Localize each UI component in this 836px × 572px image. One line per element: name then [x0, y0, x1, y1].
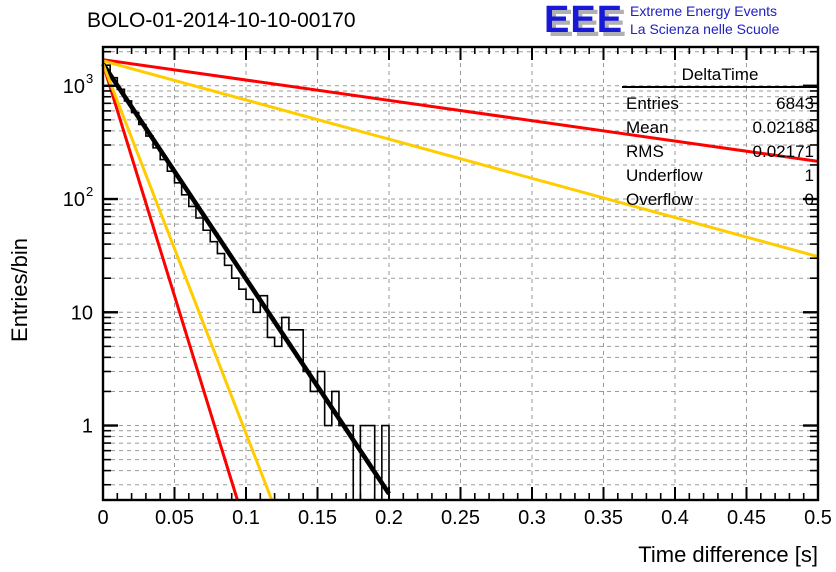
stats-row-label: RMS [626, 142, 664, 161]
x-axis-label: Time difference [s] [638, 542, 818, 567]
y-tick-exponent: 3 [86, 71, 93, 86]
stats-row-value: 0 [805, 190, 814, 209]
root-canvas: BOLO-01-2014-10-10-00170 EEE EEE Extreme… [0, 0, 836, 572]
x-tick-label: 0.4 [661, 507, 689, 529]
x-tick-label: 0.3 [518, 507, 546, 529]
eee-logo-line1: Extreme Energy Events [630, 3, 777, 19]
x-tick-label: 0 [97, 507, 108, 529]
x-tick-label: 0.15 [298, 507, 337, 529]
x-tick-label: 0.05 [155, 507, 194, 529]
stats-row-value: 0.02171 [753, 142, 814, 161]
y-tick-label: 10 [71, 302, 93, 324]
plot-page: BOLO-01-2014-10-10-00170 EEE EEE Extreme… [0, 0, 836, 572]
stats-row-label: Overflow [626, 190, 694, 209]
stats-row-value: 1 [805, 166, 814, 185]
x-tick-label: 0.5 [804, 507, 832, 529]
y-tick-exponent: 2 [86, 184, 93, 199]
y-tick-mantissa: 10 [71, 302, 93, 324]
y-tick-label: 1 [82, 416, 93, 438]
x-tick-label: 0.1 [232, 507, 260, 529]
stats-title: DeltaTime [682, 65, 759, 84]
x-tick-label: 0.45 [727, 507, 766, 529]
x-tick-label: 0.35 [584, 507, 623, 529]
x-tick-label: 0.25 [441, 507, 480, 529]
stats-row-label: Underflow [626, 166, 703, 185]
page-title: BOLO-01-2014-10-10-00170 [87, 9, 356, 32]
y-tick-mantissa: 10 [63, 76, 85, 98]
y-tick-mantissa: 10 [63, 189, 85, 211]
stats-row-label: Mean [626, 118, 669, 137]
x-tick-label: 0.2 [375, 507, 403, 529]
stats-row-label: Entries [626, 94, 679, 113]
stats-row-value: 6843 [776, 94, 814, 113]
eee-logo-line2: La Scienza nelle Scuole [630, 21, 780, 37]
eee-logo-mark: EEE [544, 0, 623, 41]
y-tick-mantissa: 1 [82, 416, 93, 438]
stats-row-value: 0.02188 [753, 118, 814, 137]
y-axis-label: Entries/bin [7, 238, 32, 342]
